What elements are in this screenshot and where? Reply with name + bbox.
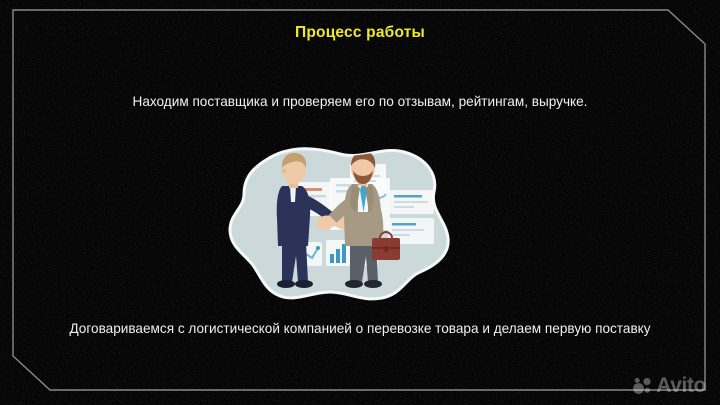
handshake-illustration bbox=[222, 138, 462, 306]
caption-step-two: Договариваемся с логистической компанией… bbox=[58, 319, 662, 339]
slide-canvas: Процесс работы Находим поставщика и пров… bbox=[0, 0, 720, 405]
avito-wordmark: Avito bbox=[656, 375, 706, 396]
caption-step-one: Находим поставщика и проверяем его по от… bbox=[50, 93, 670, 111]
slide-title: Процесс работы bbox=[0, 24, 720, 42]
avito-watermark: Avito bbox=[632, 375, 706, 396]
avito-dots-icon bbox=[632, 376, 652, 396]
